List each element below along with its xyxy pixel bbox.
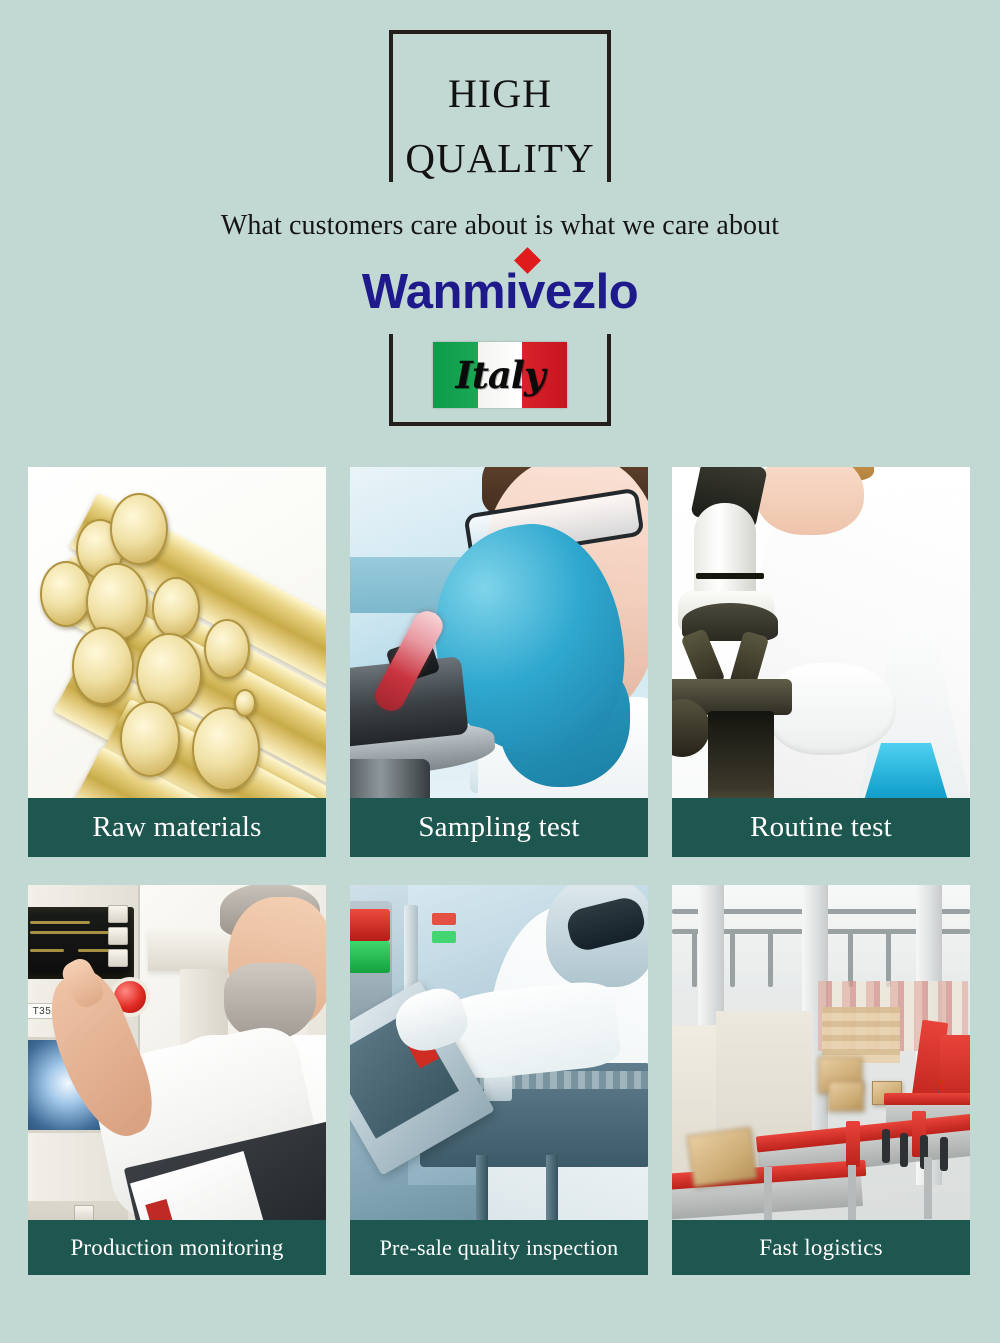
photo-presale-inspection: [350, 885, 648, 1275]
gallery-caption: Routine test: [672, 798, 970, 857]
italy-flag-icon: Italy: [433, 342, 567, 408]
capability-gallery: Raw materials Sampling test: [28, 467, 970, 1275]
gallery-card-routine-test[interactable]: Routine test: [672, 467, 970, 857]
gallery-card-production-monitoring[interactable]: T3523 Production monitoring: [28, 885, 326, 1275]
gallery-caption: Sampling test: [350, 798, 648, 857]
high-quality-frame: HIGH QUALITY: [389, 30, 611, 182]
gallery-caption: Fast logistics: [672, 1220, 970, 1275]
gallery-card-sampling-test[interactable]: Sampling test: [350, 467, 648, 857]
gallery-caption: Pre-sale quality inspection: [350, 1220, 648, 1275]
gallery-card-presale-inspection[interactable]: Pre-sale quality inspection: [350, 885, 648, 1275]
brand-name: Wanmivezlo: [362, 265, 638, 319]
photo-fast-logistics: [672, 885, 970, 1275]
gallery-caption: Raw materials: [28, 798, 326, 857]
country-label: Italy: [433, 342, 567, 408]
country-badge-frame: Italy: [389, 334, 611, 426]
gallery-caption: Production monitoring: [28, 1220, 326, 1275]
headline-line-2: QUALITY: [389, 114, 611, 179]
gallery-card-raw-materials[interactable]: Raw materials: [28, 467, 326, 857]
brand-logo: Wanmivezlo: [362, 264, 638, 320]
headline-line-1: HIGH: [389, 30, 611, 114]
gallery-card-fast-logistics[interactable]: Fast logistics: [672, 885, 970, 1275]
promo-header: HIGH QUALITY What customers care about i…: [0, 0, 1000, 426]
tagline: What customers care about is what we car…: [0, 210, 1000, 242]
photo-production-monitoring: T3523: [28, 885, 326, 1275]
